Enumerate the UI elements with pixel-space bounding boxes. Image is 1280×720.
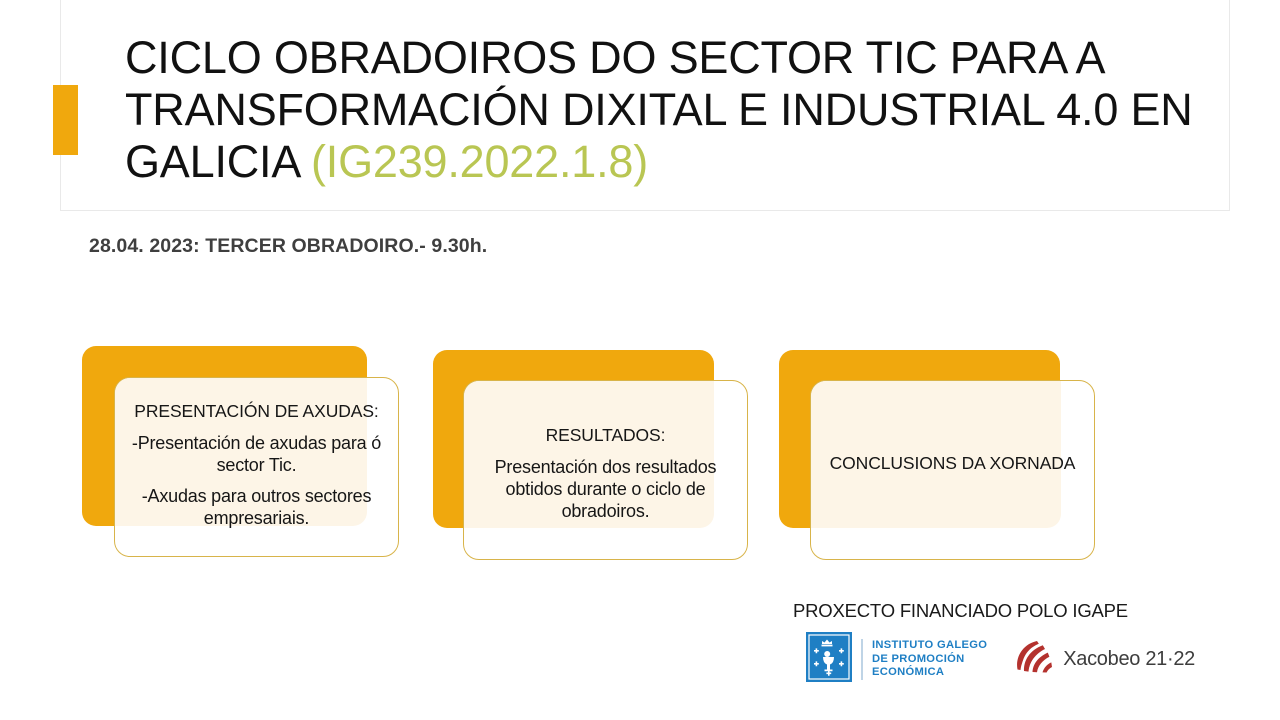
card-1-line-1: -Presentación de axudas para ó sector Ti… bbox=[125, 432, 388, 476]
xacobeo-logo: Xacobeo 21·22 bbox=[1013, 638, 1195, 681]
slide-canvas: CICLO OBRADOIROS DO SECTOR TIC PARA A TR… bbox=[0, 0, 1280, 720]
card-2-line-1: Presentación dos resultados obtidos dura… bbox=[474, 456, 737, 522]
card-2-text: RESULTADOS: Presentación dos resultados … bbox=[464, 423, 747, 522]
card-2[interactable]: RESULTADOS: Presentación dos resultados … bbox=[463, 380, 748, 560]
orange-accent-bar bbox=[53, 85, 78, 155]
card-1[interactable]: PRESENTACIÓN DE AXUDAS: -Presentación de… bbox=[114, 377, 399, 557]
logo-row: INSTITUTO GALEGO DE PROMOCIÓN ECONÓMICA bbox=[806, 632, 1195, 687]
card-3-heading: CONCLUSIONS DA XORNADA bbox=[821, 451, 1084, 475]
igape-logo-text: INSTITUTO GALEGO DE PROMOCIÓN ECONÓMICA bbox=[861, 639, 987, 679]
funding-note: PROXECTO FINANCIADO POLO IGAPE bbox=[793, 600, 1128, 622]
igape-text-line-3: ECONÓMICA bbox=[872, 666, 987, 679]
igape-text-line-1: INSTITUTO GALEGO bbox=[872, 639, 987, 652]
xunta-de-galicia-emblem-icon bbox=[806, 632, 852, 687]
card-3[interactable]: CONCLUSIONS DA XORNADA bbox=[810, 380, 1095, 560]
title-project-code: (IG239.2022.1.8) bbox=[311, 136, 648, 187]
session-subtitle: 28.04. 2023: TERCER OBRADOIRO.- 9.30h. bbox=[89, 235, 487, 258]
card-1-text: PRESENTACIÓN DE AXUDAS: -Presentación de… bbox=[115, 399, 398, 529]
igape-text-line-2: DE PROMOCIÓN bbox=[872, 653, 987, 666]
title-main-text: CICLO OBRADOIROS DO SECTOR TIC PARA A TR… bbox=[125, 32, 1193, 187]
card-3-text: CONCLUSIONS DA XORNADA bbox=[811, 451, 1094, 484]
title-heading: CICLO OBRADOIROS DO SECTOR TIC PARA A TR… bbox=[125, 32, 1195, 188]
card-1-line-2: -Axudas para outros sectores empresariai… bbox=[125, 485, 388, 529]
card-1-heading: PRESENTACIÓN DE AXUDAS: bbox=[125, 399, 388, 423]
igape-logo: INSTITUTO GALEGO DE PROMOCIÓN ECONÓMICA bbox=[806, 632, 987, 687]
xacobeo-logo-text: Xacobeo 21·22 bbox=[1063, 648, 1195, 671]
card-2-heading: RESULTADOS: bbox=[474, 423, 737, 447]
page-title: CICLO OBRADOIROS DO SECTOR TIC PARA A TR… bbox=[125, 32, 1195, 188]
scallop-shell-icon bbox=[1013, 638, 1055, 681]
